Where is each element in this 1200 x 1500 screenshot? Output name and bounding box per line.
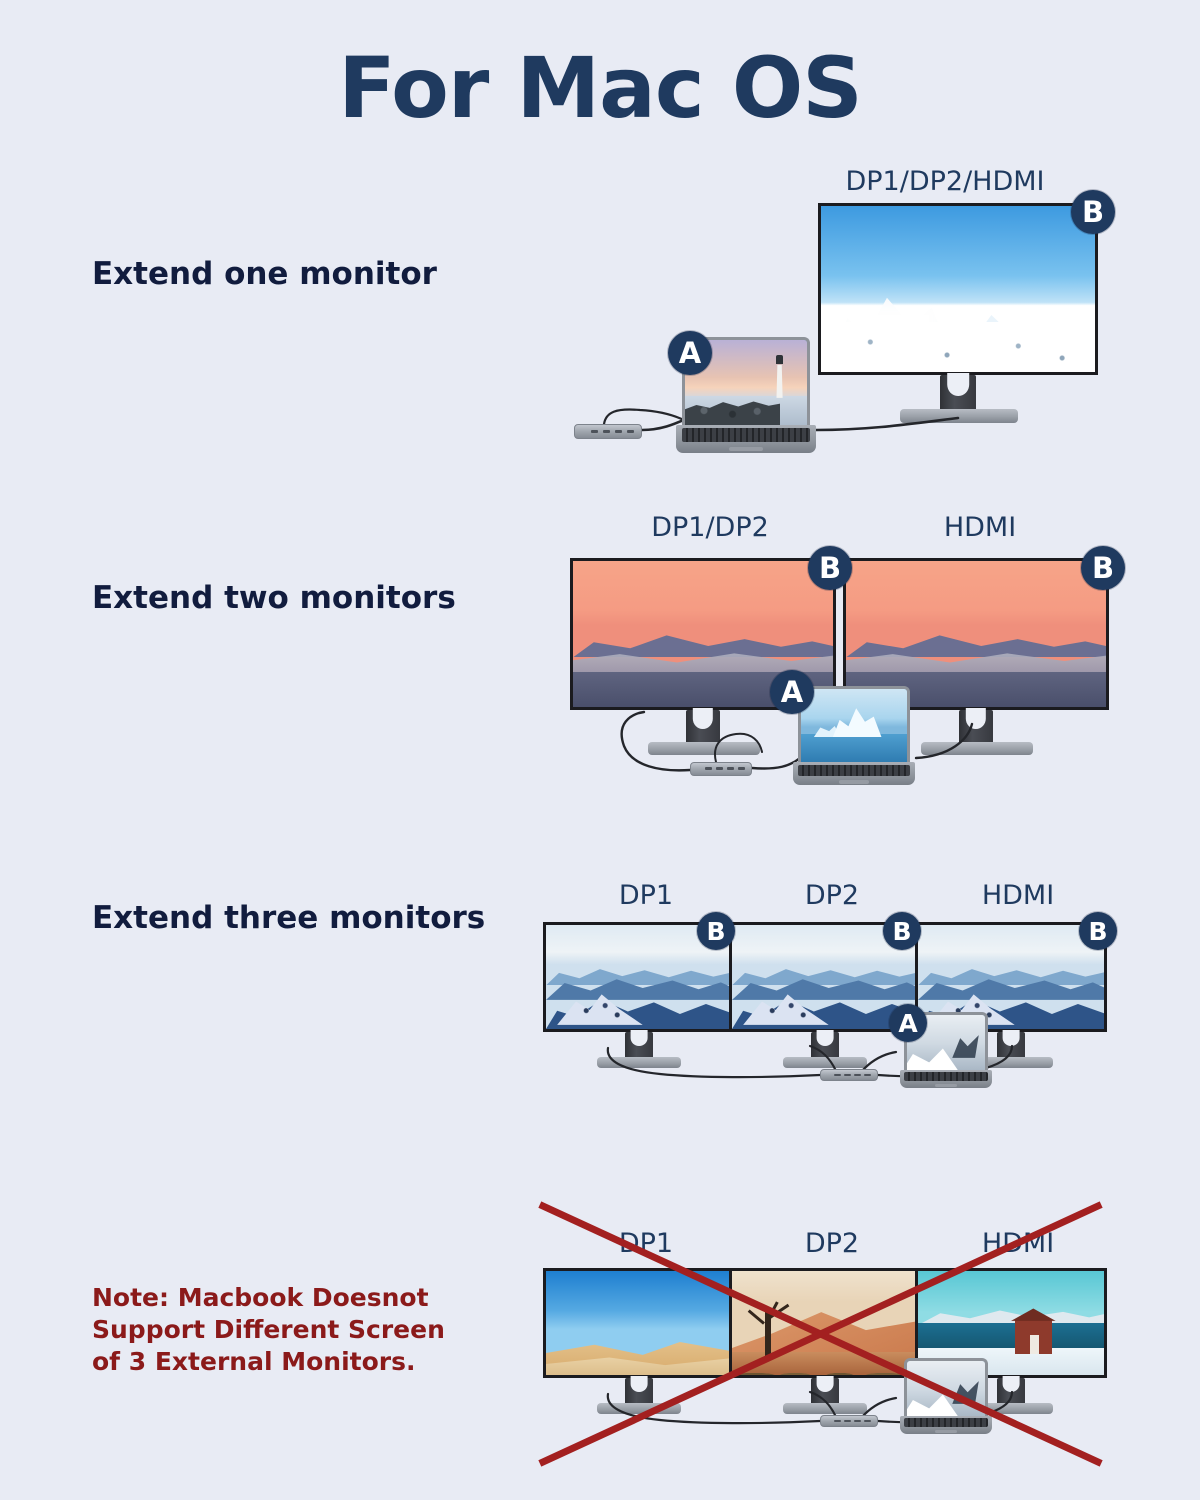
infographic-page: For Mac OS Extend one monitor DP1/DP2/HD…	[0, 0, 1200, 1500]
usb-hub-s4	[820, 1415, 878, 1427]
port-label-s3-m1: DP1	[556, 880, 736, 911]
usb-hub-s3	[820, 1069, 878, 1081]
monitor-neck-s4-1	[625, 1378, 653, 1406]
port-label-s4-m1: DP1	[556, 1228, 736, 1259]
port-label-s3-m3: HDMI	[928, 880, 1108, 911]
note-unsupported: Note: Macbook Doesnot Support Different …	[92, 1282, 472, 1378]
monitor-screen-s1-1	[818, 203, 1098, 375]
monitor-s1-1	[818, 203, 1098, 423]
monitor-neck-s3-2	[811, 1032, 839, 1060]
badge-a-s3: A	[889, 1004, 927, 1042]
port-label-s3-m2: DP2	[742, 880, 922, 911]
laptop-screen-s2	[798, 686, 910, 762]
monitor-neck-s2-2	[959, 710, 993, 746]
badge-b-s3-2: B	[883, 912, 921, 950]
monitor-neck-s3-3	[997, 1032, 1025, 1060]
laptop-body-s3	[900, 1070, 992, 1088]
badge-b-s2-2: B	[1081, 546, 1125, 590]
wallpaper-desert-tree	[732, 1271, 918, 1375]
wallpaper-snow-abstract-2	[907, 1361, 985, 1416]
monitor-base-s3-1	[597, 1057, 681, 1068]
port-label-s4-m2: DP2	[742, 1228, 922, 1259]
monitor-screen-s4-2	[729, 1268, 921, 1378]
usb-hub-s2	[690, 762, 752, 776]
laptop-body-s2	[793, 762, 915, 785]
monitor-neck-s2-1	[686, 710, 720, 746]
monitor-base-s4-2	[783, 1403, 867, 1414]
monitor-screen-s4-1	[543, 1268, 735, 1378]
monitor-neck-s3-1	[625, 1032, 653, 1060]
port-label-s1-m1: DP1/DP2/HDMI	[810, 166, 1080, 197]
laptop-body-s4	[900, 1416, 992, 1434]
badge-b-s3-3: B	[1079, 912, 1117, 950]
monitor-neck-s4-2	[811, 1378, 839, 1406]
wallpaper-iceberg	[801, 689, 907, 762]
wallpaper-sand-dune	[546, 1271, 732, 1375]
wallpaper-snowy-mountains	[821, 206, 1095, 372]
monitor-base-s3-2	[783, 1057, 867, 1068]
laptop-body-s1	[676, 425, 816, 453]
monitor-s4-2	[729, 1268, 921, 1416]
monitor-neck-s4-3	[997, 1378, 1025, 1406]
monitor-base-s1-1	[900, 409, 1018, 423]
monitor-base-s4-1	[597, 1403, 681, 1414]
badge-b-s1-1: B	[1071, 190, 1115, 234]
laptop-s4	[900, 1358, 992, 1436]
badge-a-s1: A	[668, 331, 712, 375]
badge-a-s2: A	[770, 670, 814, 714]
laptop-screen-s4	[904, 1358, 988, 1416]
section-label-extend-one: Extend one monitor	[92, 256, 437, 292]
badge-b-s3-1: B	[697, 912, 735, 950]
monitor-base-s2-1	[648, 742, 760, 755]
page-title: For Mac OS	[0, 46, 1200, 130]
monitor-base-s2-2	[921, 742, 1033, 755]
section-label-extend-two: Extend two monitors	[92, 580, 456, 616]
section-label-extend-three: Extend three monitors	[92, 900, 485, 936]
port-label-s2-m1: DP1/DP2	[575, 512, 845, 543]
monitor-s4-1	[543, 1268, 735, 1416]
usb-hub-s1	[574, 424, 642, 439]
port-label-s2-m2: HDMI	[845, 512, 1115, 543]
port-label-s4-m3: HDMI	[928, 1228, 1108, 1259]
badge-b-s2-1: B	[808, 546, 852, 590]
